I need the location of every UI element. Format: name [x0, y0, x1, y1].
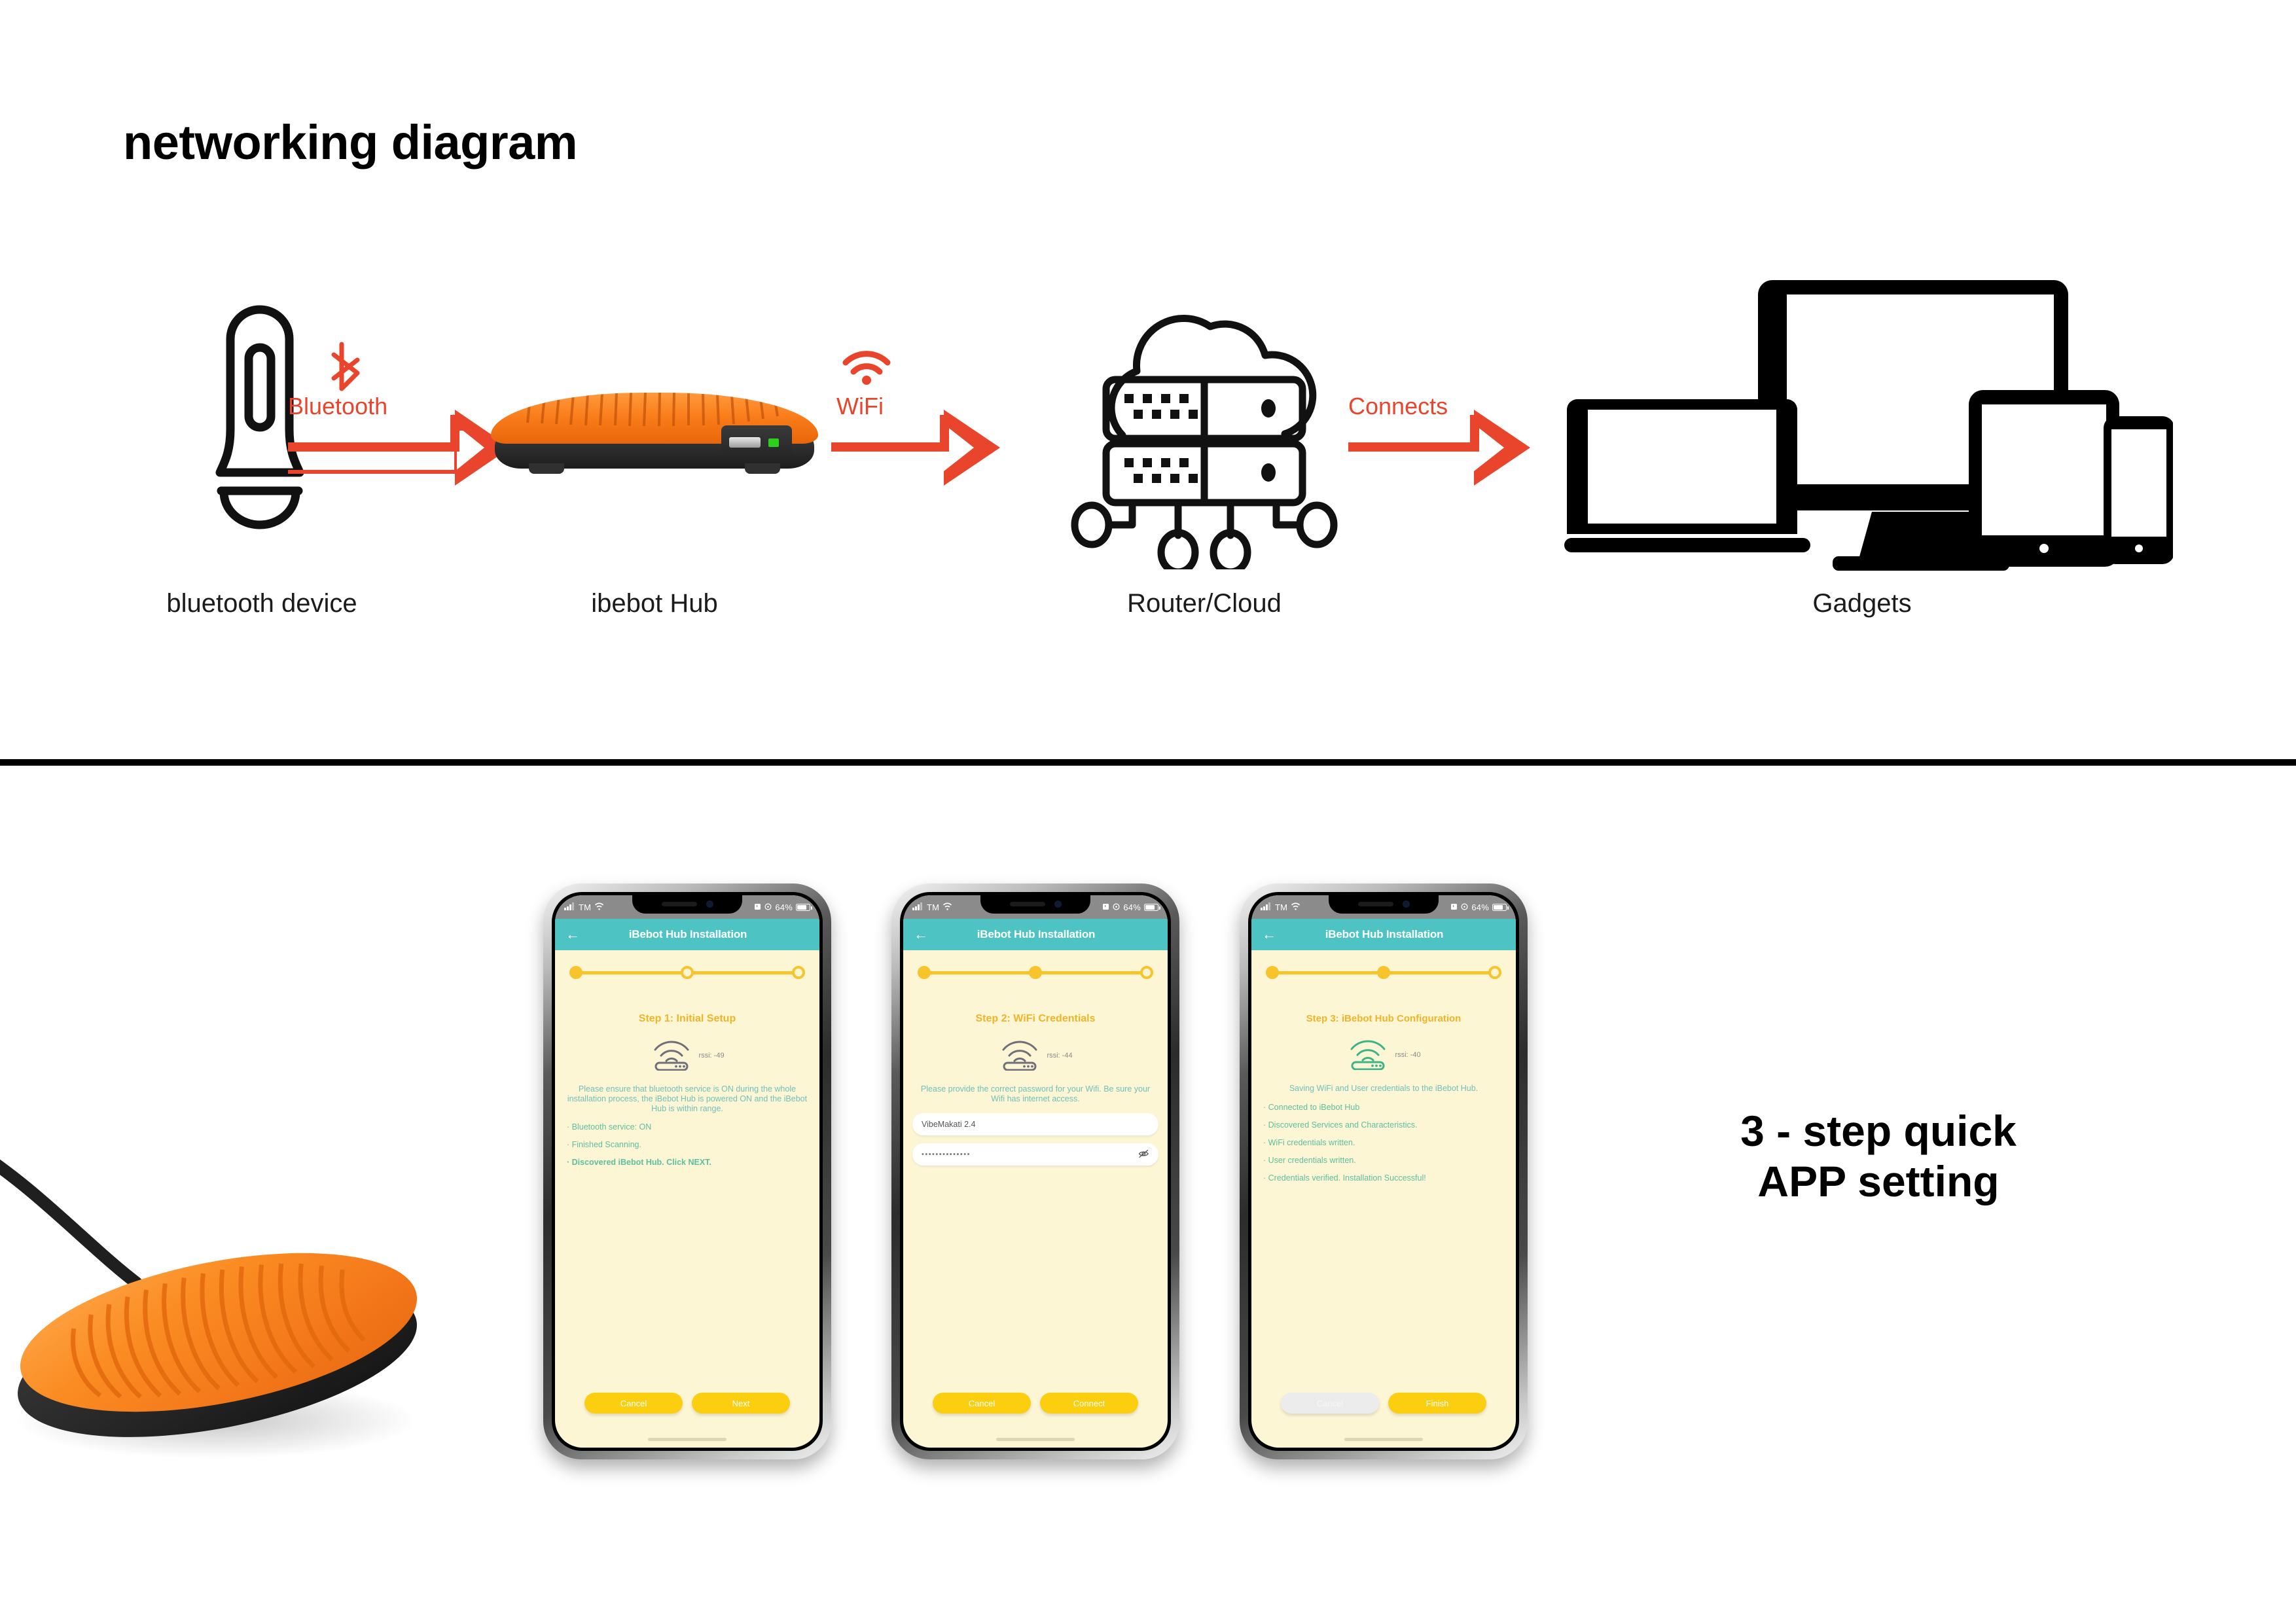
rssi-label: rssi: -49: [698, 1052, 724, 1060]
back-arrow-icon[interactable]: ←: [914, 927, 933, 942]
signal-bars-icon: [912, 902, 924, 912]
progress-stepper: [918, 959, 1153, 986]
step-title: Step 3: iBebot Hub Configuration: [1251, 1013, 1516, 1024]
step-description: Please provide the correct password for …: [914, 1084, 1157, 1104]
home-indicator: [1344, 1438, 1423, 1441]
ibebot-hub-photo: [491, 393, 818, 478]
list-item: · Discovered iBebot Hub. Click NEXT.: [567, 1158, 808, 1167]
signal-bars-icon: [1261, 902, 1272, 912]
list-item: · Bluetooth service: ON: [567, 1122, 808, 1132]
devices-cluster-icon: [1564, 268, 2173, 579]
cancel-button[interactable]: Cancel: [584, 1393, 683, 1414]
router-signal-icon: [998, 1037, 1041, 1074]
rotation-lock-icon: [1461, 902, 1468, 912]
stepper-dot-1[interactable]: [569, 966, 583, 979]
tagline-line-1: 3 - step quick: [1676, 1106, 2081, 1156]
rotation-lock-icon: [764, 902, 772, 912]
app-bar-title: iBebot Hub Installation: [585, 928, 791, 941]
button-row: Cancel Next: [555, 1393, 819, 1414]
carrier-label: TM: [927, 902, 939, 912]
next-button[interactable]: Next: [692, 1393, 790, 1414]
diagram-node-label: ibebot Hub: [452, 589, 857, 618]
app-bar-title: iBebot Hub Installation: [933, 928, 1139, 941]
section-divider: [0, 759, 2296, 766]
diagram-node-label: Gadgets: [1525, 589, 2199, 618]
rotation-lock-icon: [1113, 902, 1120, 912]
front-camera-icon: [706, 901, 713, 908]
carrier-label: TM: [579, 902, 591, 912]
ibebot-hub-product-photo: [0, 1139, 484, 1544]
signal-bars-icon: [564, 902, 575, 912]
list-item: · Credentials verified. Installation Suc…: [1263, 1173, 1504, 1183]
back-arrow-icon[interactable]: ←: [565, 927, 585, 942]
speaker-grille: [1010, 902, 1045, 906]
status-bullet-list: · Connected to iBebot Hub · Discovered S…: [1263, 1103, 1504, 1183]
router-status-row: rssi: -44: [903, 1037, 1168, 1074]
phone-notch: [980, 895, 1090, 914]
networking-diagram: bluetooth device Bluetooth: [0, 262, 2296, 668]
battery-icon: [1144, 904, 1158, 911]
front-camera-icon: [1403, 901, 1410, 908]
list-item: · WiFi credentials written.: [1263, 1138, 1504, 1147]
diagram-node-ibebot-hub: ibebot Hub: [452, 262, 857, 589]
cancel-button[interactable]: Cancel: [933, 1393, 1031, 1414]
battery-percent-label: 64%: [1471, 902, 1489, 912]
app-bar: ← iBebot Hub Installation: [903, 919, 1168, 950]
progress-stepper: [1266, 959, 1501, 986]
front-camera-icon: [1054, 901, 1062, 908]
app-screen-step-3: TM 4:52 PM 64% ←: [1240, 883, 1528, 1459]
rssi-label: rssi: -44: [1047, 1052, 1072, 1060]
stepper-dot-1[interactable]: [1266, 966, 1279, 979]
stepper-dot-3[interactable]: [1140, 966, 1153, 979]
phone-notch: [1329, 895, 1439, 914]
back-arrow-icon[interactable]: ←: [1262, 927, 1282, 942]
app-screen-step-2: TM 4:52 PM 64% ←: [891, 883, 1179, 1459]
speaker-grille: [1358, 902, 1393, 906]
app-bar: ← iBebot Hub Installation: [1251, 919, 1516, 950]
home-indicator: [648, 1438, 726, 1441]
battery-icon: [1492, 904, 1507, 911]
router-status-row: rssi: -40: [1251, 1036, 1516, 1073]
stepper-dot-2[interactable]: [1377, 966, 1390, 979]
app-bar-title: iBebot Hub Installation: [1282, 928, 1487, 941]
step-description: Please ensure that bluetooth service is …: [565, 1084, 809, 1113]
wifi-icon: [840, 346, 893, 389]
diagram-arrow-wifi: WiFi: [831, 340, 1028, 510]
finish-button[interactable]: Finish: [1388, 1393, 1486, 1414]
list-item: · Connected to iBebot Hub: [1263, 1103, 1504, 1112]
wifi-name-value: VibeMakati 2.4: [922, 1120, 975, 1129]
status-bullet-list: · Bluetooth service: ON · Finished Scann…: [567, 1122, 808, 1167]
tagline-line-2: APP setting: [1676, 1156, 2081, 1207]
router-status-row: rssi: -49: [555, 1037, 819, 1074]
alarm-icon: [1450, 902, 1458, 912]
battery-percent-label: 64%: [1123, 902, 1141, 912]
wifi-password-value: ••••••••••••••: [922, 1150, 971, 1158]
carrier-label: TM: [1275, 902, 1287, 912]
connect-button[interactable]: Connect: [1040, 1393, 1138, 1414]
arrow-shape: [831, 397, 1028, 508]
wifi-icon: [594, 902, 604, 912]
router-signal-icon: [650, 1037, 693, 1074]
progress-stepper: [569, 959, 805, 986]
router-cloud-icon: [1060, 281, 1348, 573]
wifi-icon: [1291, 902, 1300, 912]
button-row: Cancel Finish: [1251, 1393, 1516, 1414]
app-bar: ← iBebot Hub Installation: [555, 919, 819, 950]
alarm-icon: [754, 902, 761, 912]
stepper-dot-3[interactable]: [1488, 966, 1501, 979]
phone-notch: [632, 895, 742, 914]
credentials-form: VibeMakati 2.4 ••••••••••••••: [912, 1113, 1158, 1166]
router-signal-icon: [1346, 1036, 1390, 1073]
alarm-icon: [1102, 902, 1109, 912]
wifi-password-input[interactable]: ••••••••••••••: [912, 1143, 1158, 1166]
stepper-dot-2[interactable]: [681, 966, 694, 979]
diagram-node-label: bluetooth device: [98, 589, 425, 618]
step-title: Step 2: WiFi Credentials: [903, 1013, 1168, 1025]
diagram-node-router-cloud: Router/Cloud: [1021, 262, 1388, 589]
diagram-node-label: Router/Cloud: [1021, 589, 1388, 618]
app-screen-step-1: TM 4:52 PM 64% ←: [543, 883, 831, 1459]
list-item: · Finished Scanning.: [567, 1140, 808, 1149]
button-row: Cancel Connect: [903, 1393, 1168, 1414]
rssi-label: rssi: -40: [1395, 1051, 1420, 1059]
stepper-dot-1[interactable]: [918, 966, 931, 979]
bluetooth-icon: [326, 340, 365, 396]
list-item: · User credentials written.: [1263, 1156, 1504, 1165]
home-indicator: [996, 1438, 1075, 1441]
cancel-button: Cancel: [1281, 1393, 1379, 1414]
battery-icon: [796, 904, 810, 911]
step-description: Saving WiFi and User credentials to the …: [1262, 1084, 1505, 1094]
stepper-dot-2[interactable]: [1029, 966, 1042, 979]
list-item: · Discovered Services and Characteristic…: [1263, 1120, 1504, 1130]
wifi-icon: [942, 902, 952, 912]
stepper-dot-3[interactable]: [792, 966, 805, 979]
step-title: Step 1: Initial Setup: [555, 1013, 819, 1025]
tagline: 3 - step quick APP setting: [1676, 1106, 2081, 1206]
page-title: networking diagram: [123, 115, 577, 170]
wifi-name-input[interactable]: VibeMakati 2.4: [912, 1113, 1158, 1135]
battery-percent-label: 64%: [775, 902, 793, 912]
speaker-grille: [662, 902, 697, 906]
eye-off-icon[interactable]: [1138, 1149, 1149, 1160]
diagram-node-gadgets: Gadgets: [1525, 262, 2199, 589]
